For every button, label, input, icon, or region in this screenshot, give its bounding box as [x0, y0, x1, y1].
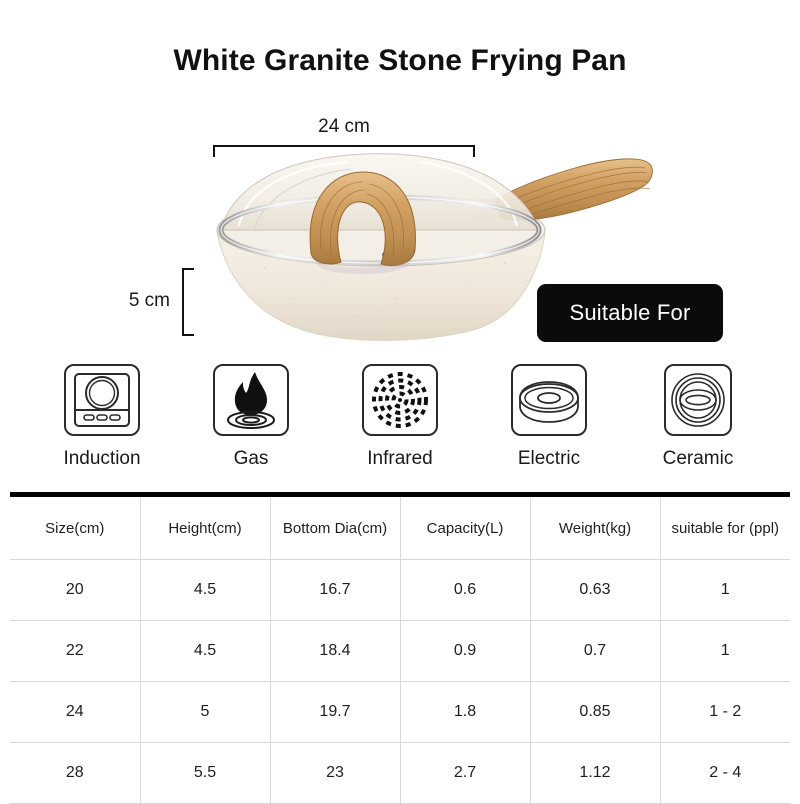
cell-bottom-dia: 16.7: [270, 560, 400, 621]
gas-flame-icon: [202, 362, 300, 438]
cell-height: 5.5: [140, 743, 270, 804]
column-header-size: Size(cm): [10, 495, 140, 560]
cell-weight: 0.85: [530, 682, 660, 743]
cell-bottom-dia: 18.4: [270, 621, 400, 682]
cell-size: 28: [10, 743, 140, 804]
height-dimension-label: 5 cm: [98, 290, 170, 312]
cell-weight: 0.63: [530, 560, 660, 621]
compat-item-infrared: Infrared: [326, 362, 474, 484]
compat-label-ceramic: Ceramic: [663, 448, 734, 470]
compatibility-row: Induction Gas: [28, 362, 772, 484]
column-header-bottom-dia: Bottom Dia(cm): [270, 495, 400, 560]
cell-height: 5: [140, 682, 270, 743]
cell-height: 4.5: [140, 621, 270, 682]
cell-capacity: 2.7: [400, 743, 530, 804]
compat-label-electric: Electric: [518, 448, 580, 470]
cell-height: 4.5: [140, 560, 270, 621]
compat-label-gas: Gas: [234, 448, 269, 470]
cell-capacity: 0.6: [400, 560, 530, 621]
compat-item-gas: Gas: [177, 362, 325, 484]
table-header-row: Size(cm) Height(cm) Bottom Dia(cm) Capac…: [10, 495, 790, 560]
table-row: 28 5.5 23 2.7 1.12 2 - 4: [10, 743, 790, 804]
cell-suitable-for: 1 - 2: [660, 682, 790, 743]
suitable-for-badge: Suitable For: [537, 284, 723, 342]
induction-cooktop-icon: [53, 362, 151, 438]
cell-suitable-for: 1: [660, 560, 790, 621]
cell-bottom-dia: 23: [270, 743, 400, 804]
column-header-height: Height(cm): [140, 495, 270, 560]
page-title: White Granite Stone Frying Pan: [0, 44, 800, 78]
compat-item-ceramic: Ceramic: [624, 362, 772, 484]
cell-size: 22: [10, 621, 140, 682]
cell-size: 20: [10, 560, 140, 621]
electric-hotplate-icon: [500, 362, 598, 438]
column-header-weight: Weight(kg): [530, 495, 660, 560]
cell-capacity: 1.8: [400, 682, 530, 743]
cell-capacity: 0.9: [400, 621, 530, 682]
table-row: 24 5 19.7 1.8 0.85 1 - 2: [10, 682, 790, 743]
compat-label-infrared: Infrared: [367, 448, 432, 470]
table-row: 22 4.5 18.4 0.9 0.7 1: [10, 621, 790, 682]
suitable-for-label: Suitable For: [569, 300, 690, 326]
compat-label-induction: Induction: [63, 448, 140, 470]
cell-weight: 1.12: [530, 743, 660, 804]
infrared-coil-icon: [351, 362, 449, 438]
column-header-suitable-for: suitable for (ppl): [660, 495, 790, 560]
cell-suitable-for: 2 - 4: [660, 743, 790, 804]
column-header-capacity: Capacity(L): [400, 495, 530, 560]
compat-item-electric: Electric: [475, 362, 623, 484]
cell-weight: 0.7: [530, 621, 660, 682]
table-row: 20 4.5 16.7 0.6 0.63 1: [10, 560, 790, 621]
cell-suitable-for: 1: [660, 621, 790, 682]
height-dimension-bracket: [182, 268, 194, 336]
cell-size: 24: [10, 682, 140, 743]
cell-bottom-dia: 19.7: [270, 682, 400, 743]
width-dimension-label: 24 cm: [213, 116, 475, 138]
ceramic-hob-icon: [649, 362, 747, 438]
specifications-table: Size(cm) Height(cm) Bottom Dia(cm) Capac…: [10, 492, 790, 804]
compat-item-induction: Induction: [28, 362, 176, 484]
